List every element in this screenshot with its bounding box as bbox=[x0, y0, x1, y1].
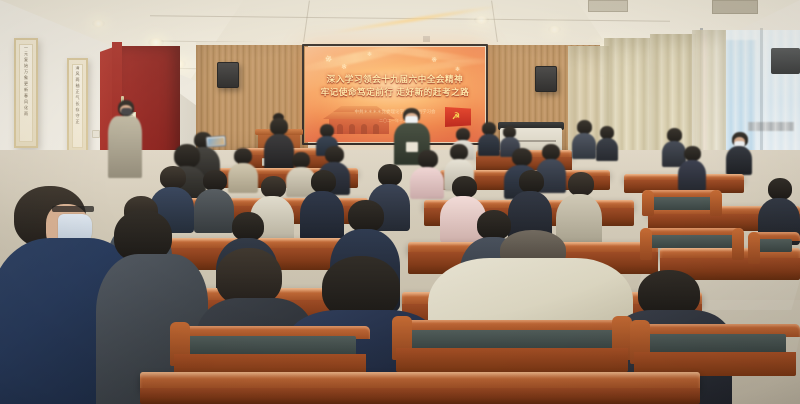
head bbox=[348, 200, 384, 232]
body bbox=[726, 146, 752, 175]
bench-arm bbox=[732, 228, 744, 260]
head bbox=[234, 148, 252, 164]
audience-person bbox=[410, 150, 444, 198]
dove-icon: ❄ bbox=[367, 52, 372, 58]
head bbox=[232, 212, 264, 241]
head bbox=[667, 128, 682, 142]
head bbox=[270, 118, 288, 135]
wall-display bbox=[771, 48, 800, 74]
bench-arm bbox=[642, 190, 654, 216]
bench-base bbox=[396, 348, 628, 372]
head bbox=[325, 146, 344, 163]
head bbox=[768, 178, 792, 200]
body bbox=[478, 134, 500, 156]
head bbox=[418, 150, 438, 168]
bench-seat[interactable] bbox=[748, 232, 800, 272]
ceiling-downlight bbox=[474, 16, 489, 24]
wall-speaker-right bbox=[535, 66, 557, 92]
bench-arm bbox=[640, 228, 652, 260]
head bbox=[477, 210, 511, 240]
foreground-desk-face bbox=[140, 388, 700, 404]
bench-arm bbox=[710, 190, 722, 216]
head bbox=[684, 146, 701, 161]
meeting-room-photo: ❄ ❄ ❄ ❄ ❄ ☭ 深入学习领会十九届六中全会精神 牢记使命笃定前行 走好新… bbox=[0, 0, 800, 404]
seat-cushion bbox=[406, 330, 618, 350]
face-mask bbox=[121, 108, 132, 115]
smartphone[interactable] bbox=[206, 135, 227, 147]
head bbox=[512, 148, 532, 166]
audience-person bbox=[596, 126, 618, 160]
head bbox=[292, 152, 310, 168]
ceiling-downlight bbox=[92, 20, 105, 27]
body bbox=[572, 133, 596, 159]
ceiling-air-vent bbox=[588, 0, 628, 12]
scroll-calligraphy: 一元复始万象更新春风化雨 bbox=[16, 46, 36, 140]
scroll-calligraphy: 清风两袖正气长存守正 bbox=[69, 66, 86, 146]
audience-person bbox=[556, 172, 602, 246]
head bbox=[174, 144, 200, 168]
seat-cushion bbox=[644, 334, 786, 354]
wall-scroll-1: 一元复始万象更新春风化雨 bbox=[14, 38, 38, 148]
head bbox=[160, 166, 186, 189]
head bbox=[261, 176, 286, 198]
head bbox=[519, 170, 544, 193]
tiananmen-arch bbox=[373, 124, 379, 134]
ceiling-downlight bbox=[548, 26, 561, 33]
head bbox=[450, 144, 468, 160]
tiananmen-arch bbox=[349, 124, 355, 134]
head bbox=[568, 172, 594, 196]
phone-screen bbox=[208, 137, 224, 145]
bench-seat[interactable] bbox=[630, 324, 800, 378]
wall-speaker-left bbox=[217, 62, 239, 88]
head bbox=[311, 170, 336, 193]
light-switch[interactable] bbox=[92, 130, 100, 138]
head bbox=[378, 164, 402, 186]
bench-seat[interactable] bbox=[640, 228, 744, 268]
head bbox=[542, 144, 560, 160]
audience-person bbox=[726, 132, 752, 174]
eyeglasses bbox=[52, 206, 94, 212]
head bbox=[577, 120, 592, 134]
body bbox=[410, 167, 444, 199]
bench-seat[interactable] bbox=[392, 320, 632, 374]
head bbox=[203, 170, 227, 191]
seat-cushion bbox=[650, 197, 714, 210]
seat-cushion bbox=[648, 235, 736, 248]
seat-cushion bbox=[756, 239, 792, 252]
screen-headline-1: 深入学习领会十九届六中全会精神 bbox=[305, 73, 485, 85]
screen-headline-2: 牢记使命笃定前行 走好新的赶考之路 bbox=[305, 86, 485, 98]
seat-cushion bbox=[184, 336, 356, 356]
head bbox=[452, 176, 477, 198]
ceiling-air-vent bbox=[712, 0, 758, 14]
bench-arm bbox=[748, 232, 760, 264]
body bbox=[596, 138, 618, 161]
audience-person bbox=[478, 122, 500, 154]
bench-seat[interactable] bbox=[642, 190, 722, 222]
tiananmen-arch bbox=[361, 124, 367, 134]
standing-woman-left bbox=[108, 100, 142, 184]
body bbox=[678, 160, 706, 191]
audience-person bbox=[572, 120, 596, 158]
coat bbox=[108, 116, 142, 178]
wall-scroll-2: 清风两袖正气长存守正 bbox=[67, 58, 88, 154]
audience-person bbox=[678, 146, 706, 190]
dove-icon: ❄ bbox=[340, 63, 347, 71]
